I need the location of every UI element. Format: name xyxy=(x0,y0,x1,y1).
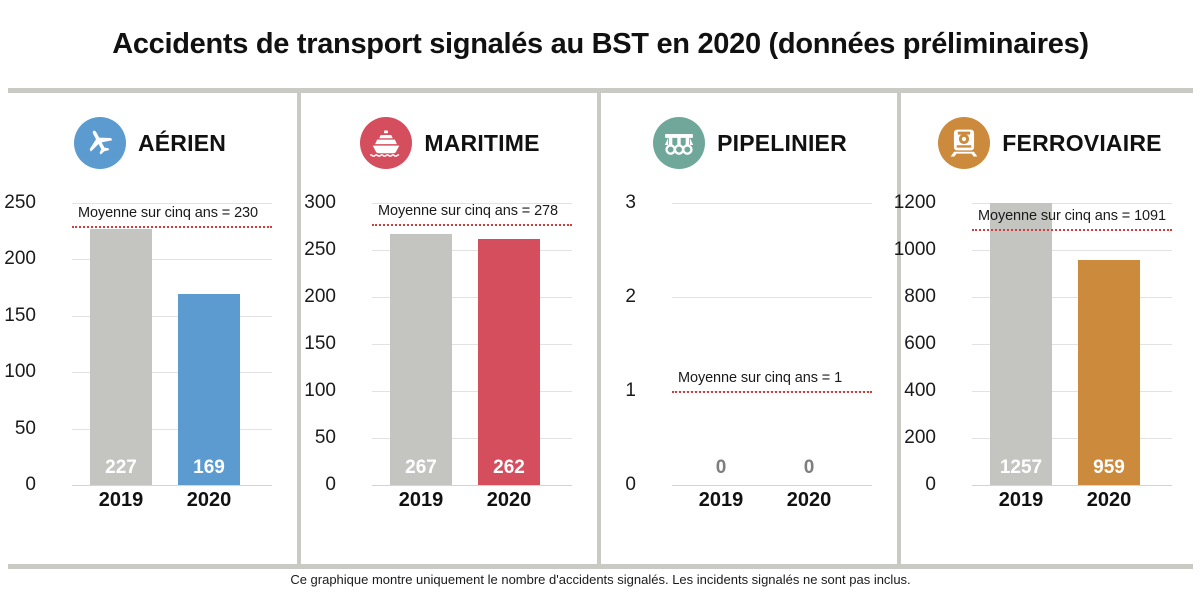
y-axis-tick-label: 0 xyxy=(874,474,936,496)
panel-ferroviaire: FERROVIAIRE0200400600800100012001257959M… xyxy=(900,93,1200,564)
y-axis-tick-label: 400 xyxy=(874,380,936,402)
y-axis-tick-label: 100 xyxy=(274,380,336,402)
train-icon xyxy=(938,117,990,169)
bar-value-label: 959 xyxy=(1078,457,1140,479)
bar-2020[interactable]: 0 xyxy=(778,203,840,485)
y-axis-tick-label: 1200 xyxy=(874,192,936,214)
bar-2019[interactable]: 0 xyxy=(690,203,752,485)
bar-value-label: 169 xyxy=(178,457,240,479)
y-axis-tick-label: 800 xyxy=(874,286,936,308)
y-axis-tick-label: 0 xyxy=(0,474,36,496)
footer-note: Ce graphique montre uniquement le nombre… xyxy=(0,572,1201,587)
bar-rect[interactable] xyxy=(390,234,452,485)
y-axis-tick-label: 600 xyxy=(874,333,936,355)
bar-chart: 050100150200250227169Moyenne sur cinq an… xyxy=(0,185,300,564)
airplane-icon xyxy=(74,117,126,169)
panel-title: FERROVIAIRE xyxy=(1002,130,1161,157)
bar-2020[interactable]: 169 xyxy=(178,203,240,485)
y-axis-tick-label: 250 xyxy=(274,239,336,261)
y-axis-tick-label: 150 xyxy=(274,333,336,355)
y-axis-tick-label: 0 xyxy=(274,474,336,496)
y-axis-tick-label: 200 xyxy=(274,286,336,308)
panel-header: MARITIME xyxy=(300,117,600,169)
x-axis-category-label: 2019 xyxy=(690,489,752,512)
bar-2019[interactable]: 1257 xyxy=(990,203,1052,485)
x-axis-category-label: 2020 xyxy=(478,489,540,512)
five-year-average-line xyxy=(672,391,872,393)
bar-value-label: 1257 xyxy=(990,457,1052,479)
y-axis-tick-label: 200 xyxy=(0,248,36,270)
plot-axes: 050100150200250300267262Moyenne sur cinq… xyxy=(372,203,572,485)
y-axis-tick-label: 1000 xyxy=(874,239,936,261)
y-axis-tick-label: 100 xyxy=(0,361,36,383)
bar-chart: 012300Moyenne sur cinq ans = 120192020 xyxy=(600,185,900,564)
panel-aérien: AÉRIEN050100150200250227169Moyenne sur c… xyxy=(0,93,300,564)
y-axis-tick-label: 50 xyxy=(274,427,336,449)
y-axis-tick-label: 200 xyxy=(874,427,936,449)
bar-rect[interactable] xyxy=(1078,260,1140,485)
panel-title: MARITIME xyxy=(424,130,539,157)
bar-group: 00 xyxy=(672,203,872,485)
plot-axes: 0200400600800100012001257959Moyenne sur … xyxy=(972,203,1172,485)
y-axis-tick-label: 50 xyxy=(0,418,36,440)
five-year-average-label: Moyenne sur cinq ans = 278 xyxy=(378,203,558,219)
bar-value-label: 0 xyxy=(778,457,840,479)
bar-value-label: 262 xyxy=(478,457,540,479)
y-axis-tick-label: 300 xyxy=(274,192,336,214)
bar-group: 267262 xyxy=(372,203,572,485)
page-title: Accidents de transport signalés au BST e… xyxy=(112,28,1089,61)
panel-container: AÉRIEN050100150200250227169Moyenne sur c… xyxy=(0,93,1201,564)
title-bar: Accidents de transport signalés au BST e… xyxy=(0,0,1201,88)
bar-value-label: 0 xyxy=(690,457,752,479)
gridline xyxy=(672,485,872,486)
bar-rect[interactable] xyxy=(90,229,152,485)
bar-value-label: 227 xyxy=(90,457,152,479)
bar-value-label: 267 xyxy=(390,457,452,479)
bar-2020[interactable]: 262 xyxy=(478,203,540,485)
infographic-root: Accidents de transport signalés au BST e… xyxy=(0,0,1201,606)
five-year-average-line xyxy=(372,224,572,226)
y-axis-tick-label: 150 xyxy=(0,305,36,327)
bar-2019[interactable]: 267 xyxy=(390,203,452,485)
y-axis-tick-label: 3 xyxy=(574,192,636,214)
five-year-average-label: Moyenne sur cinq ans = 1091 xyxy=(978,208,1166,224)
panel-maritime: MARITIME050100150200250300267262Moyenne … xyxy=(300,93,600,564)
plot-axes: 050100150200250227169Moyenne sur cinq an… xyxy=(72,203,272,485)
x-axis-category-label: 2020 xyxy=(1078,489,1140,512)
panel-header: AÉRIEN xyxy=(0,117,300,169)
panel-header: PIPELINIER xyxy=(600,117,900,169)
bar-group: 227169 xyxy=(72,203,272,485)
pipeline-icon xyxy=(653,117,705,169)
y-axis-tick-label: 250 xyxy=(0,192,36,214)
gridline xyxy=(972,485,1172,486)
bar-chart: 050100150200250300267262Moyenne sur cinq… xyxy=(300,185,600,564)
gridline xyxy=(372,485,572,486)
panel-header: FERROVIAIRE xyxy=(900,117,1200,169)
plot-axes: 012300Moyenne sur cinq ans = 1 xyxy=(672,203,872,485)
x-axis-category-label: 2019 xyxy=(90,489,152,512)
x-axis-category-label: 2020 xyxy=(178,489,240,512)
five-year-average-label: Moyenne sur cinq ans = 230 xyxy=(78,205,258,221)
five-year-average-label: Moyenne sur cinq ans = 1 xyxy=(678,370,842,386)
y-axis-tick-label: 2 xyxy=(574,286,636,308)
five-year-average-line xyxy=(972,229,1172,231)
panel-pipelinier: PIPELINIER012300Moyenne sur cinq ans = 1… xyxy=(600,93,900,564)
x-axis-category-label: 2019 xyxy=(990,489,1052,512)
bar-chart: 0200400600800100012001257959Moyenne sur … xyxy=(900,185,1200,564)
panel-title: PIPELINIER xyxy=(717,130,847,157)
x-axis-category-label: 2019 xyxy=(390,489,452,512)
five-year-average-line xyxy=(72,226,272,228)
bar-2019[interactable]: 227 xyxy=(90,203,152,485)
gridline xyxy=(72,485,272,486)
bar-rect[interactable] xyxy=(990,203,1052,485)
y-axis-tick-label: 0 xyxy=(574,474,636,496)
ship-icon xyxy=(360,117,412,169)
bar-2020[interactable]: 959 xyxy=(1078,203,1140,485)
bar-group: 1257959 xyxy=(972,203,1172,485)
x-axis-category-label: 2020 xyxy=(778,489,840,512)
panel-title: AÉRIEN xyxy=(138,130,226,157)
y-axis-tick-label: 1 xyxy=(574,380,636,402)
bar-rect[interactable] xyxy=(478,239,540,485)
